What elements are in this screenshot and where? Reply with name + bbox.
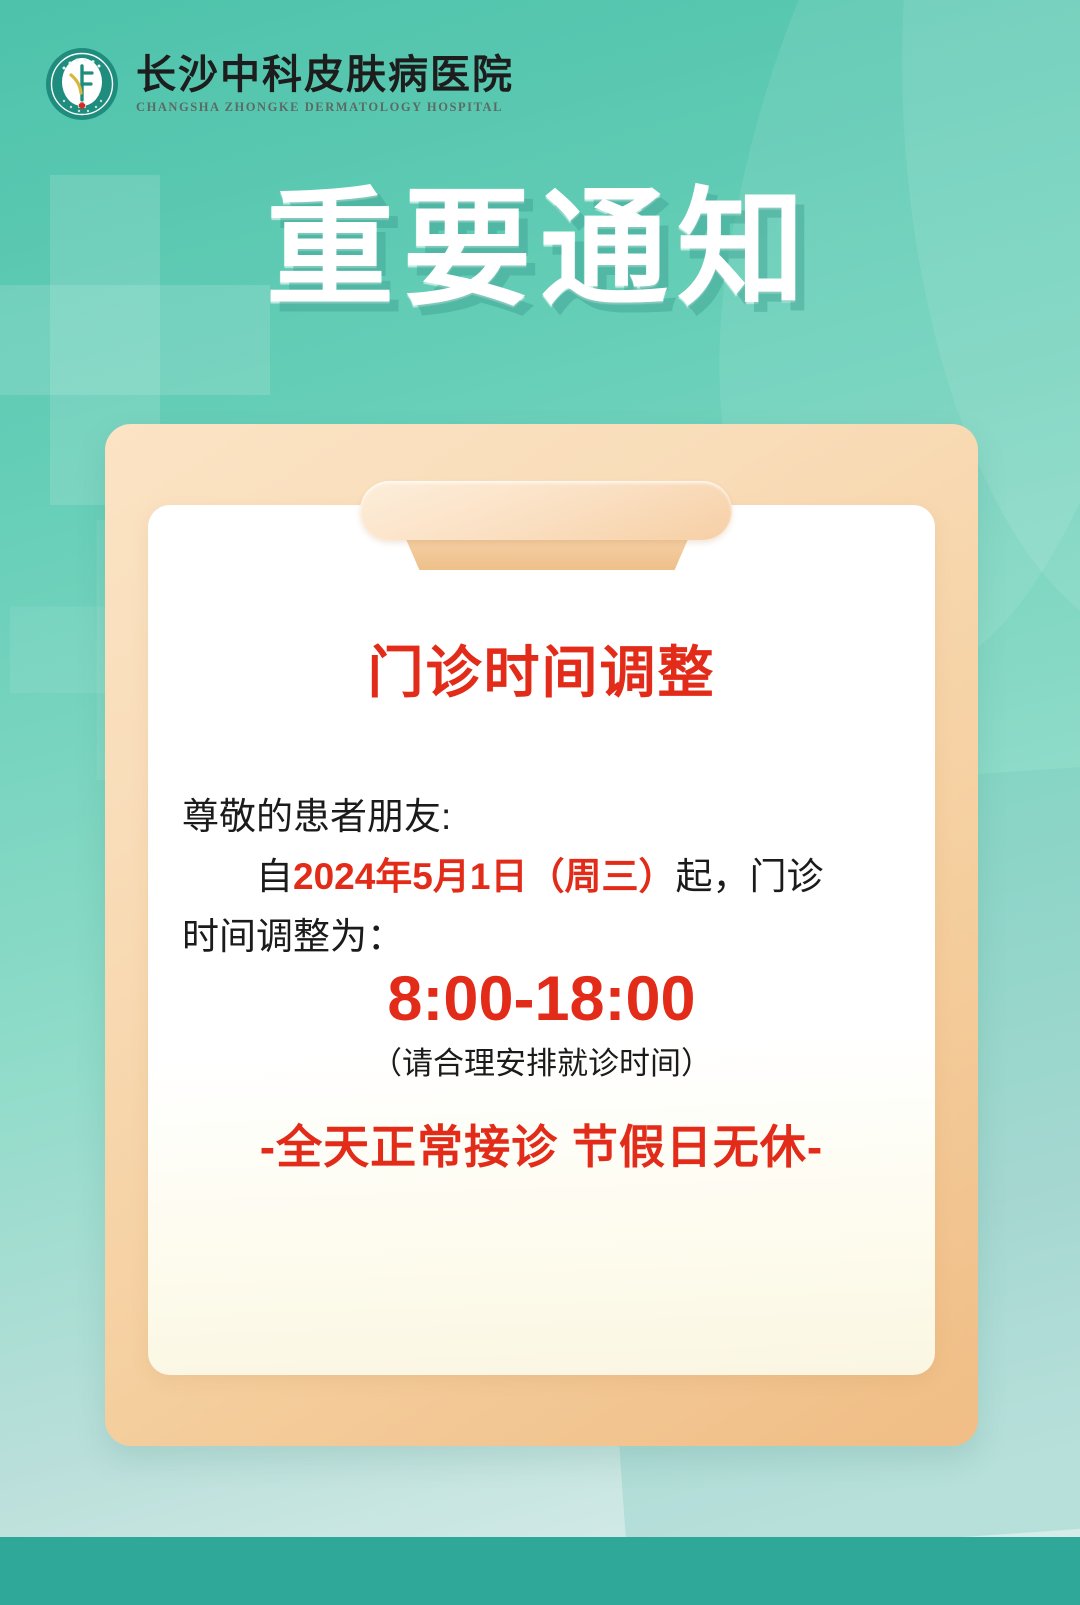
clinic-hours-note: （请合理安排就诊时间） xyxy=(148,1045,935,1082)
brand-text: 长沙中科皮肤病医院 CHANGSHA ZHONGKE DERMATOLOGY H… xyxy=(136,54,514,115)
hospital-name-cn: 长沙中科皮肤病医院 xyxy=(136,54,514,96)
notice-paragraph-line1: 自2024年5月1日（周三）起，门诊 xyxy=(182,847,902,907)
paragraph-tail: 起，门诊 xyxy=(675,856,823,897)
notice-slogan: -全天正常接诊 节假日无休- xyxy=(148,1120,935,1175)
bottom-color-bar xyxy=(0,1537,1080,1605)
notice-paper: 门诊时间调整 尊敬的患者朋友: 自2024年5月1日（周三）起，门诊 时间调整为… xyxy=(148,505,935,1375)
effective-date: 2024年5月1日（周三） xyxy=(293,856,675,897)
clipboard-board: 门诊时间调整 尊敬的患者朋友: 自2024年5月1日（周三）起，门诊 时间调整为… xyxy=(105,424,978,1446)
brand-header: 长沙中科皮肤病医院 CHANGSHA ZHONGKE DERMATOLOGY H… xyxy=(44,46,514,122)
notice-body: 尊敬的患者朋友: 自2024年5月1日（周三）起，门诊 时间调整为： xyxy=(182,787,902,967)
notice-heading: 门诊时间调整 xyxy=(148,645,935,701)
notice-salutation: 尊敬的患者朋友: xyxy=(182,787,902,847)
notice-poster: 长沙中科皮肤病医院 CHANGSHA ZHONGKE DERMATOLOGY H… xyxy=(0,0,1080,1605)
hospital-emblem-icon xyxy=(44,46,120,122)
clinic-hours: 8:00-18:00 xyxy=(148,968,935,1031)
notice-paragraph-line2: 时间调整为： xyxy=(182,907,902,967)
paragraph-lead: 自 xyxy=(256,856,293,897)
page-title: 重要通知 xyxy=(0,186,1080,314)
clipboard-clip-icon xyxy=(360,481,732,540)
hospital-name-en: CHANGSHA ZHONGKE DERMATOLOGY HOSPITAL xyxy=(136,100,514,115)
